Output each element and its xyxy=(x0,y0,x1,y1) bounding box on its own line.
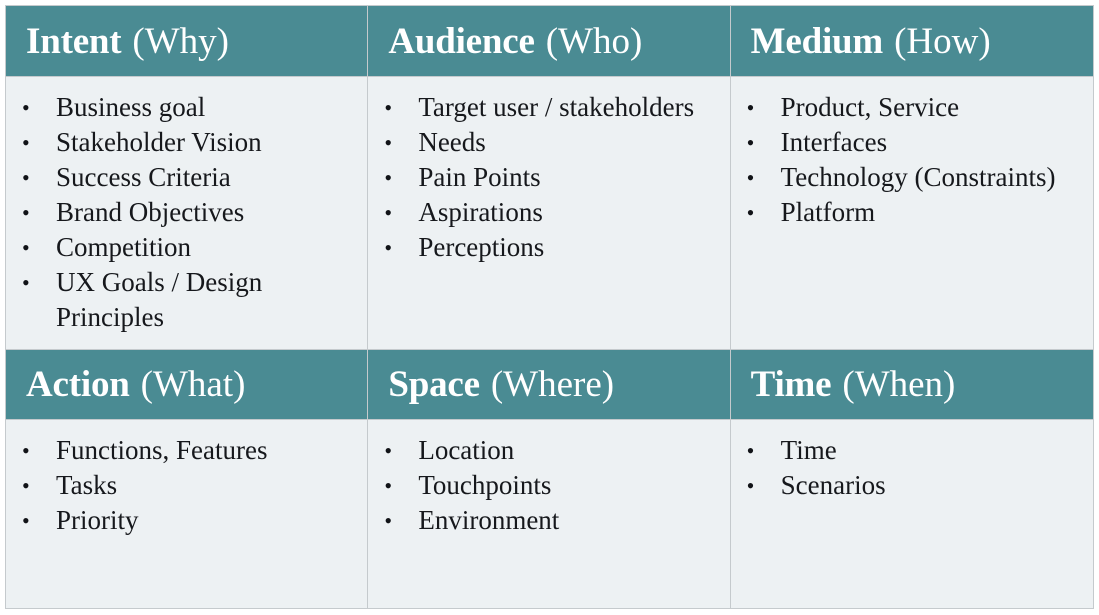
cell-header-term: Intent xyxy=(26,23,121,60)
cell-medium[interactable]: Medium (How) • Product, Service • Interf… xyxy=(731,6,1093,349)
list-item[interactable]: • UX Goals / Design Principles xyxy=(6,265,359,335)
list-item[interactable]: • Tasks xyxy=(6,468,359,503)
cell-header-action: Action (What) xyxy=(6,349,367,420)
cell-header-space: Space (Where) xyxy=(368,349,729,420)
cell-header-medium: Medium (How) xyxy=(731,6,1093,77)
cell-header-term: Space xyxy=(388,366,480,403)
list-item[interactable]: • Perceptions xyxy=(368,230,721,265)
list-item-label: Scenarios xyxy=(781,468,1085,503)
framework-grid-frame: Intent (Why) • Business goal • Stakehold… xyxy=(5,5,1094,609)
cell-intent[interactable]: Intent (Why) • Business goal • Stakehold… xyxy=(6,6,368,349)
bullet-icon: • xyxy=(22,433,36,468)
bullet-icon: • xyxy=(22,265,36,300)
list-item[interactable]: • Priority xyxy=(6,503,359,538)
bullet-icon: • xyxy=(22,125,36,160)
list-item-label: Interfaces xyxy=(781,125,1085,160)
cell-body-intent: • Business goal • Stakeholder Vision • S… xyxy=(6,77,367,349)
list-item-label: Pain Points xyxy=(418,160,721,195)
bullet-icon: • xyxy=(747,433,761,468)
bullet-icon: • xyxy=(384,503,398,538)
list-item[interactable]: • Location xyxy=(368,433,721,468)
bullet-icon: • xyxy=(22,468,36,503)
list-item-label: Aspirations xyxy=(418,195,721,230)
framework-grid: Intent (Why) • Business goal • Stakehold… xyxy=(6,6,1093,608)
list-item-label: Stakeholder Vision xyxy=(56,125,359,160)
list-item[interactable]: • Environment xyxy=(368,503,721,538)
list-item-label: Success Criteria xyxy=(56,160,359,195)
list-item-label: Tasks xyxy=(56,468,359,503)
list-item-label: Perceptions xyxy=(418,230,721,265)
list-item-label: Environment xyxy=(418,503,721,538)
list-item[interactable]: • Needs xyxy=(368,125,721,160)
list-item[interactable]: • Aspirations xyxy=(368,195,721,230)
bullet-icon: • xyxy=(747,125,761,160)
bullet-icon: • xyxy=(384,90,398,125)
list-item[interactable]: • Platform xyxy=(731,195,1085,230)
list-item[interactable]: • Success Criteria xyxy=(6,160,359,195)
list-item[interactable]: • Stakeholder Vision xyxy=(6,125,359,160)
bullet-icon: • xyxy=(384,125,398,160)
cell-space[interactable]: Space (Where) • Location • Touchpoints xyxy=(368,349,730,608)
cell-header-term: Action xyxy=(26,366,130,403)
list-item-label: Time xyxy=(781,433,1085,468)
list-item[interactable]: • Technology (Constraints) xyxy=(731,160,1085,195)
cell-header-time: Time (When) xyxy=(731,349,1093,420)
list-item-label: Priority xyxy=(56,503,359,538)
list-item-label: Location xyxy=(418,433,721,468)
cell-header-qualifier: (Where) xyxy=(491,366,614,403)
list-item-label: UX Goals / Design Principles xyxy=(56,265,359,335)
cell-audience[interactable]: Audience (Who) • Target user / stakehold… xyxy=(368,6,730,349)
cell-body-audience: • Target user / stakeholders • Needs • P… xyxy=(368,77,729,349)
bullet-icon: • xyxy=(384,468,398,503)
list-item[interactable]: • Touchpoints xyxy=(368,468,721,503)
bullet-icon: • xyxy=(384,160,398,195)
cell-header-intent: Intent (Why) xyxy=(6,6,367,77)
bullet-icon: • xyxy=(384,230,398,265)
bullet-list-intent: • Business goal • Stakeholder Vision • S… xyxy=(6,90,359,335)
cell-action[interactable]: Action (What) • Functions, Features • Ta… xyxy=(6,349,368,608)
cell-header-qualifier: (How) xyxy=(894,23,991,60)
list-item[interactable]: • Brand Objectives xyxy=(6,195,359,230)
cell-header-term: Medium xyxy=(751,23,883,60)
list-item[interactable]: • Interfaces xyxy=(731,125,1085,160)
list-item-label: Competition xyxy=(56,230,359,265)
cell-header-qualifier: (Why) xyxy=(132,23,229,60)
cell-body-medium: • Product, Service • Interfaces • Techno… xyxy=(731,77,1093,349)
bullet-icon: • xyxy=(22,90,36,125)
cell-header-qualifier: (What) xyxy=(141,366,246,403)
list-item-label: Product, Service xyxy=(781,90,1085,125)
bullet-icon: • xyxy=(22,503,36,538)
cell-header-qualifier: (When) xyxy=(842,366,955,403)
bullet-icon: • xyxy=(747,195,761,230)
cell-body-space: • Location • Touchpoints • Environment xyxy=(368,420,729,608)
bullet-list-action: • Functions, Features • Tasks • Priority xyxy=(6,433,359,538)
bullet-icon: • xyxy=(384,195,398,230)
list-item-label: Touchpoints xyxy=(418,468,721,503)
list-item[interactable]: • Time xyxy=(731,433,1085,468)
cell-header-term: Time xyxy=(751,366,832,403)
cell-header-term: Audience xyxy=(388,23,534,60)
cell-body-time: • Time • Scenarios xyxy=(731,420,1093,608)
bullet-icon: • xyxy=(22,160,36,195)
bullet-icon: • xyxy=(747,90,761,125)
list-item[interactable]: • Functions, Features xyxy=(6,433,359,468)
cell-header-audience: Audience (Who) xyxy=(368,6,729,77)
cell-time[interactable]: Time (When) • Time • Scenarios xyxy=(731,349,1093,608)
bullet-icon: • xyxy=(747,468,761,503)
list-item-label: Business goal xyxy=(56,90,359,125)
list-item-label: Brand Objectives xyxy=(56,195,359,230)
list-item-label: Needs xyxy=(418,125,721,160)
bullet-icon: • xyxy=(747,160,761,195)
bullet-list-audience: • Target user / stakeholders • Needs • P… xyxy=(368,90,721,265)
list-item[interactable]: • Competition xyxy=(6,230,359,265)
list-item[interactable]: • Business goal xyxy=(6,90,359,125)
list-item-label: Target user / stakeholders xyxy=(418,90,721,125)
bullet-list-medium: • Product, Service • Interfaces • Techno… xyxy=(731,90,1085,230)
list-item[interactable]: • Pain Points xyxy=(368,160,721,195)
bullet-list-time: • Time • Scenarios xyxy=(731,433,1085,503)
bullet-list-space: • Location • Touchpoints • Environment xyxy=(368,433,721,538)
bullet-icon: • xyxy=(384,433,398,468)
list-item[interactable]: • Target user / stakeholders xyxy=(368,90,721,125)
bullet-icon: • xyxy=(22,230,36,265)
list-item[interactable]: • Scenarios xyxy=(731,468,1085,503)
list-item-label: Functions, Features xyxy=(56,433,359,468)
list-item[interactable]: • Product, Service xyxy=(731,90,1085,125)
list-item-label: Platform xyxy=(781,195,1085,230)
bullet-icon: • xyxy=(22,195,36,230)
cell-header-qualifier: (Who) xyxy=(546,23,643,60)
list-item-label: Technology (Constraints) xyxy=(781,160,1085,195)
cell-body-action: • Functions, Features • Tasks • Priority xyxy=(6,420,367,608)
